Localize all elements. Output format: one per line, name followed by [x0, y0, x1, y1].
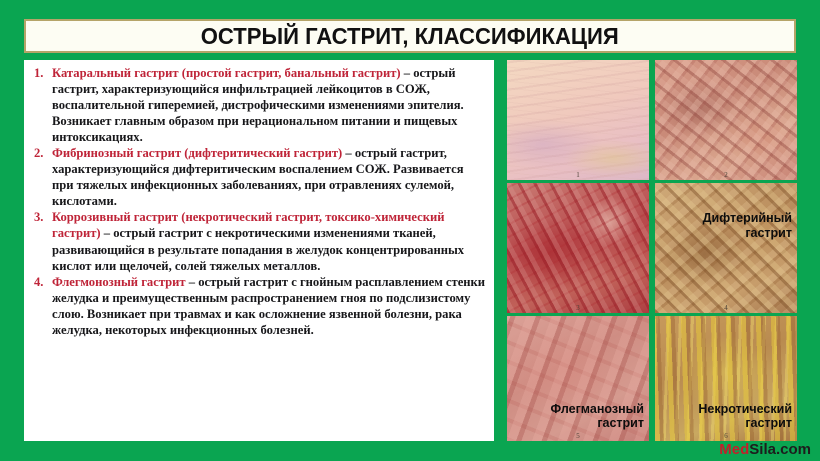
image-index-label: 3: [507, 305, 649, 312]
slide-title-box: ОСТРЫЙ ГАСТРИТ, КЛАССИФИКАЦИЯ: [24, 19, 796, 53]
image-index-label: 6: [655, 433, 797, 440]
list-item-number: 1.: [30, 65, 52, 81]
tissue-photo-icon: [507, 183, 649, 313]
tissue-photo-icon: [655, 60, 797, 180]
list-item-heading: Катаральный гастрит (простой гастрит, ба…: [52, 66, 401, 80]
slide-root: ОСТРЫЙ ГАСТРИТ, КЛАССИФИКАЦИЯ 1. Катарал…: [0, 0, 820, 461]
list-item-body: Фибринозный гастрит (дифтеритический гас…: [52, 145, 486, 209]
tissue-photo-icon: [507, 60, 649, 180]
list-item: 3. Коррозивный гастрит (некротический га…: [30, 209, 486, 273]
list-item-body: Катаральный гастрит (простой гастрит, ба…: [52, 65, 486, 145]
watermark: MedSila.com: [719, 442, 811, 457]
image-caption: Флегманозный гастрит: [551, 402, 644, 432]
gallery-image-1: 1: [507, 60, 649, 180]
image-index-label: 1: [507, 172, 649, 179]
image-index-label: 2: [655, 172, 797, 179]
image-caption: Некротический гастрит: [698, 402, 792, 432]
gallery-image-5: Флегманозный гастрит 5: [507, 316, 649, 441]
list-item-description: – острый гастрит с некротическими измене…: [52, 226, 464, 272]
image-index-label: 4: [655, 305, 797, 312]
watermark-brand-suffix: Sila.com: [749, 441, 811, 458]
list-item-heading: Флегмонозный гастрит: [52, 275, 186, 289]
list-item-heading: Фибринозный гастрит (дифтеритический гас…: [52, 146, 342, 160]
list-item-number: 3.: [30, 209, 52, 225]
gallery-image-6: Некротический гастрит 6: [655, 316, 797, 441]
list-item-body: Коррозивный гастрит (некротический гастр…: [52, 209, 486, 273]
gallery-image-3: 3: [507, 183, 649, 313]
image-caption: Дифтерийный гастрит: [703, 211, 792, 241]
tissue-photo-icon: [655, 183, 797, 313]
list-item: 2. Фибринозный гастрит (дифтеритический …: [30, 145, 486, 209]
image-index-label: 5: [507, 433, 649, 440]
list-item: 1. Катаральный гастрит (простой гастрит,…: [30, 65, 486, 145]
watermark-brand-prefix: Med: [719, 441, 749, 458]
list-item-body: Флегмонозный гастрит – острый гастрит с …: [52, 274, 486, 338]
list-item-number: 2.: [30, 145, 52, 161]
classification-list-panel: 1. Катаральный гастрит (простой гастрит,…: [24, 60, 494, 441]
gallery-image-4: Дифтерийный гастрит 4: [655, 183, 797, 313]
image-gallery: 1 2 3 Дифтерийный гастрит 4 Флегманозный…: [507, 60, 797, 441]
list-item-number: 4.: [30, 274, 52, 290]
page-title: ОСТРЫЙ ГАСТРИТ, КЛАССИФИКАЦИЯ: [201, 23, 619, 50]
list-item: 4. Флегмонозный гастрит – острый гастрит…: [30, 274, 486, 338]
gallery-image-2: 2: [655, 60, 797, 180]
